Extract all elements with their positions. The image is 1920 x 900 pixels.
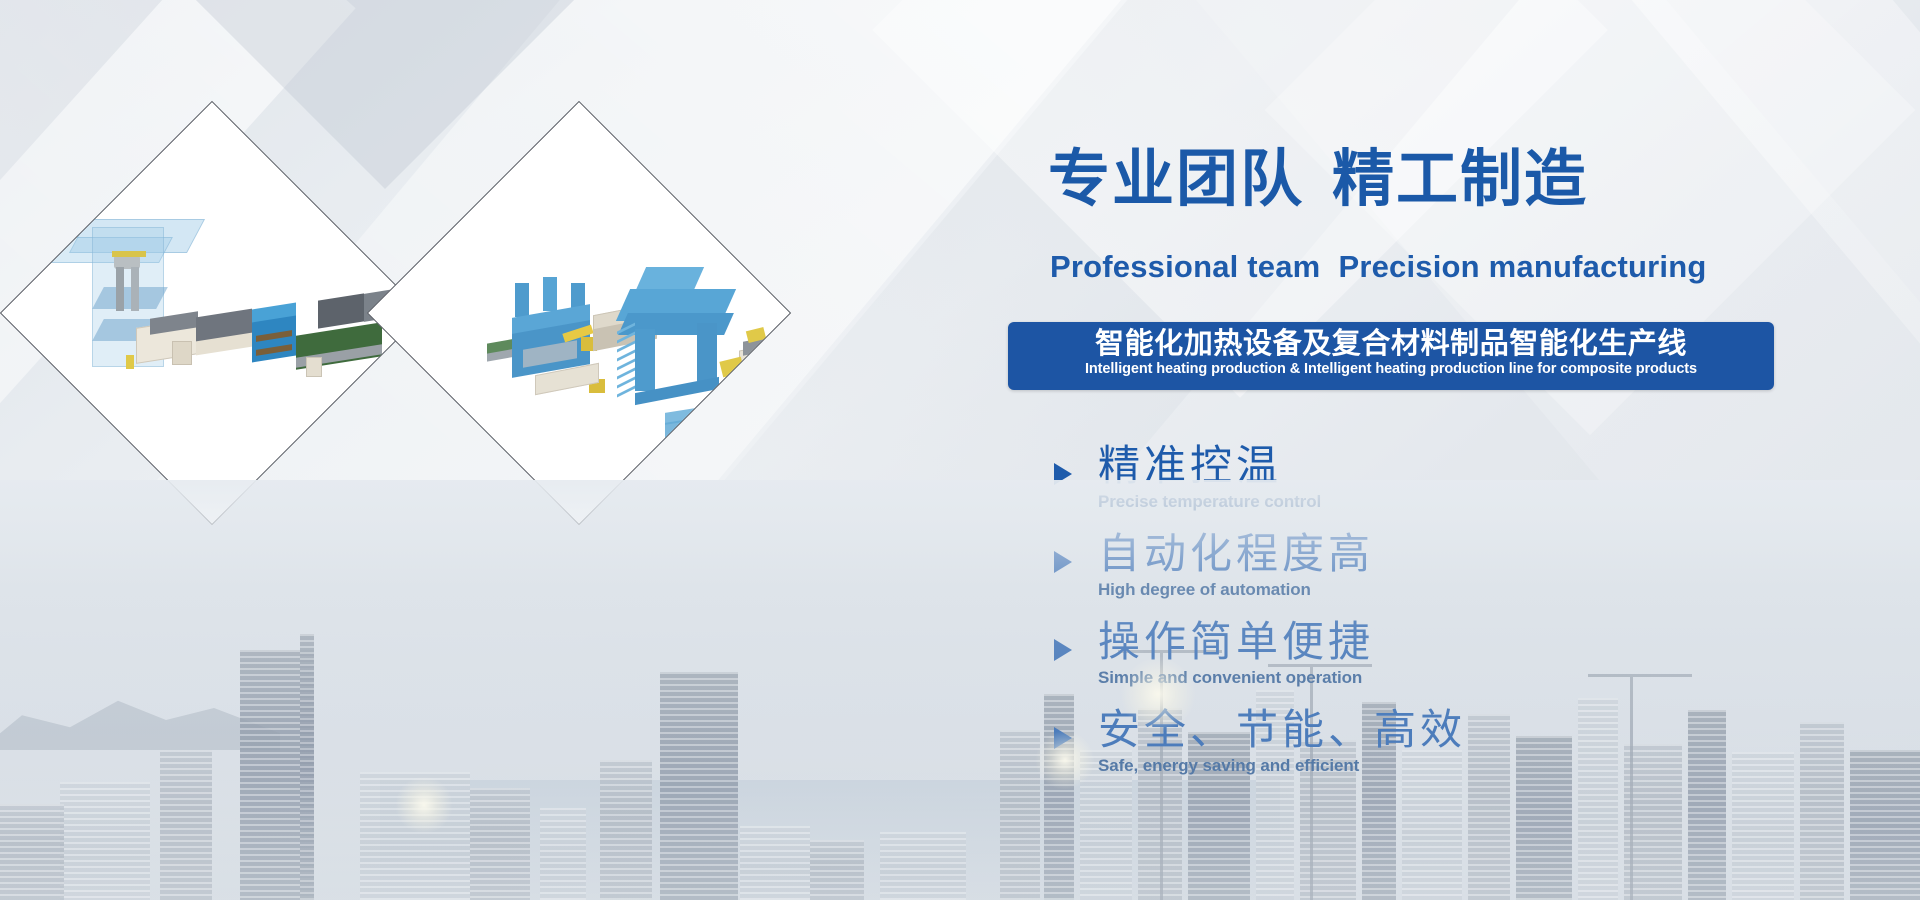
banner-stage: 专业团队精工制造 Professional teamPrecision manu… <box>0 0 1920 900</box>
badge-title-cn: 智能化加热设备及复合材料制品智能化生产线 <box>1020 327 1762 360</box>
headline-en-part2: Precision manufacturing <box>1338 249 1706 284</box>
page-title: 专业团队精工制造 <box>1048 148 1588 210</box>
product-render-2 <box>367 101 791 525</box>
product-line-badge: 智能化加热设备及复合材料制品智能化生产线 Intelligent heating… <box>1008 322 1774 390</box>
headline-cn-part2: 精工制造 <box>1332 142 1588 215</box>
city-skyline-photo <box>0 480 1920 900</box>
product-image-diamond-2 <box>367 101 791 525</box>
badge-title-en: Intelligent heating production & Intelli… <box>1020 361 1762 377</box>
product-render-1 <box>0 101 424 525</box>
page-subtitle: Professional teamPrecision manufacturing <box>1050 249 1707 285</box>
photo-haze-overlay <box>0 480 1920 900</box>
headline-en-part1: Professional team <box>1050 249 1320 284</box>
headline-cn-part1: 专业团队 <box>1048 142 1304 215</box>
product-image-diamond-1 <box>0 101 424 525</box>
